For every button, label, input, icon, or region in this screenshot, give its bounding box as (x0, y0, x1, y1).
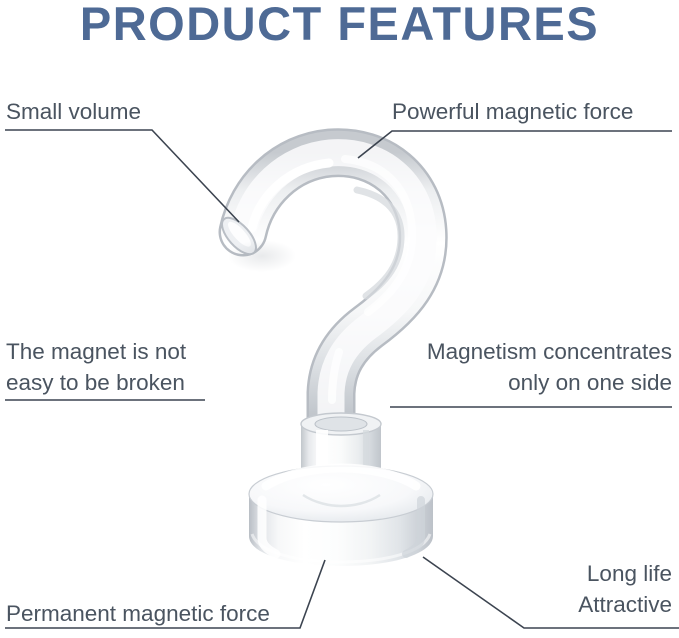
magnet-base-part (249, 466, 433, 566)
leader-powerful (358, 131, 672, 158)
feature-label-permanent-magnetic-force: Permanent magnetic force (6, 598, 270, 629)
hook-part (216, 153, 423, 418)
feature-label-powerful-magnetic-force: Powerful magnetic force (392, 96, 633, 127)
feature-label-small-volume: Small volume (6, 96, 141, 127)
leader-small-volume (5, 130, 239, 222)
feature-label-magnetism-one-side: Magnetism concentrates only on one side (427, 336, 672, 398)
feature-label-not-easy-broken: The magnet is not easy to be broken (6, 336, 186, 398)
collar-part (301, 413, 381, 494)
page-title: PRODUCT FEATURES (0, 0, 679, 51)
feature-label-long-life-attractive: Long life Attractive (578, 558, 672, 620)
infographic-canvas: PRODUCT FEATURES (0, 0, 679, 638)
